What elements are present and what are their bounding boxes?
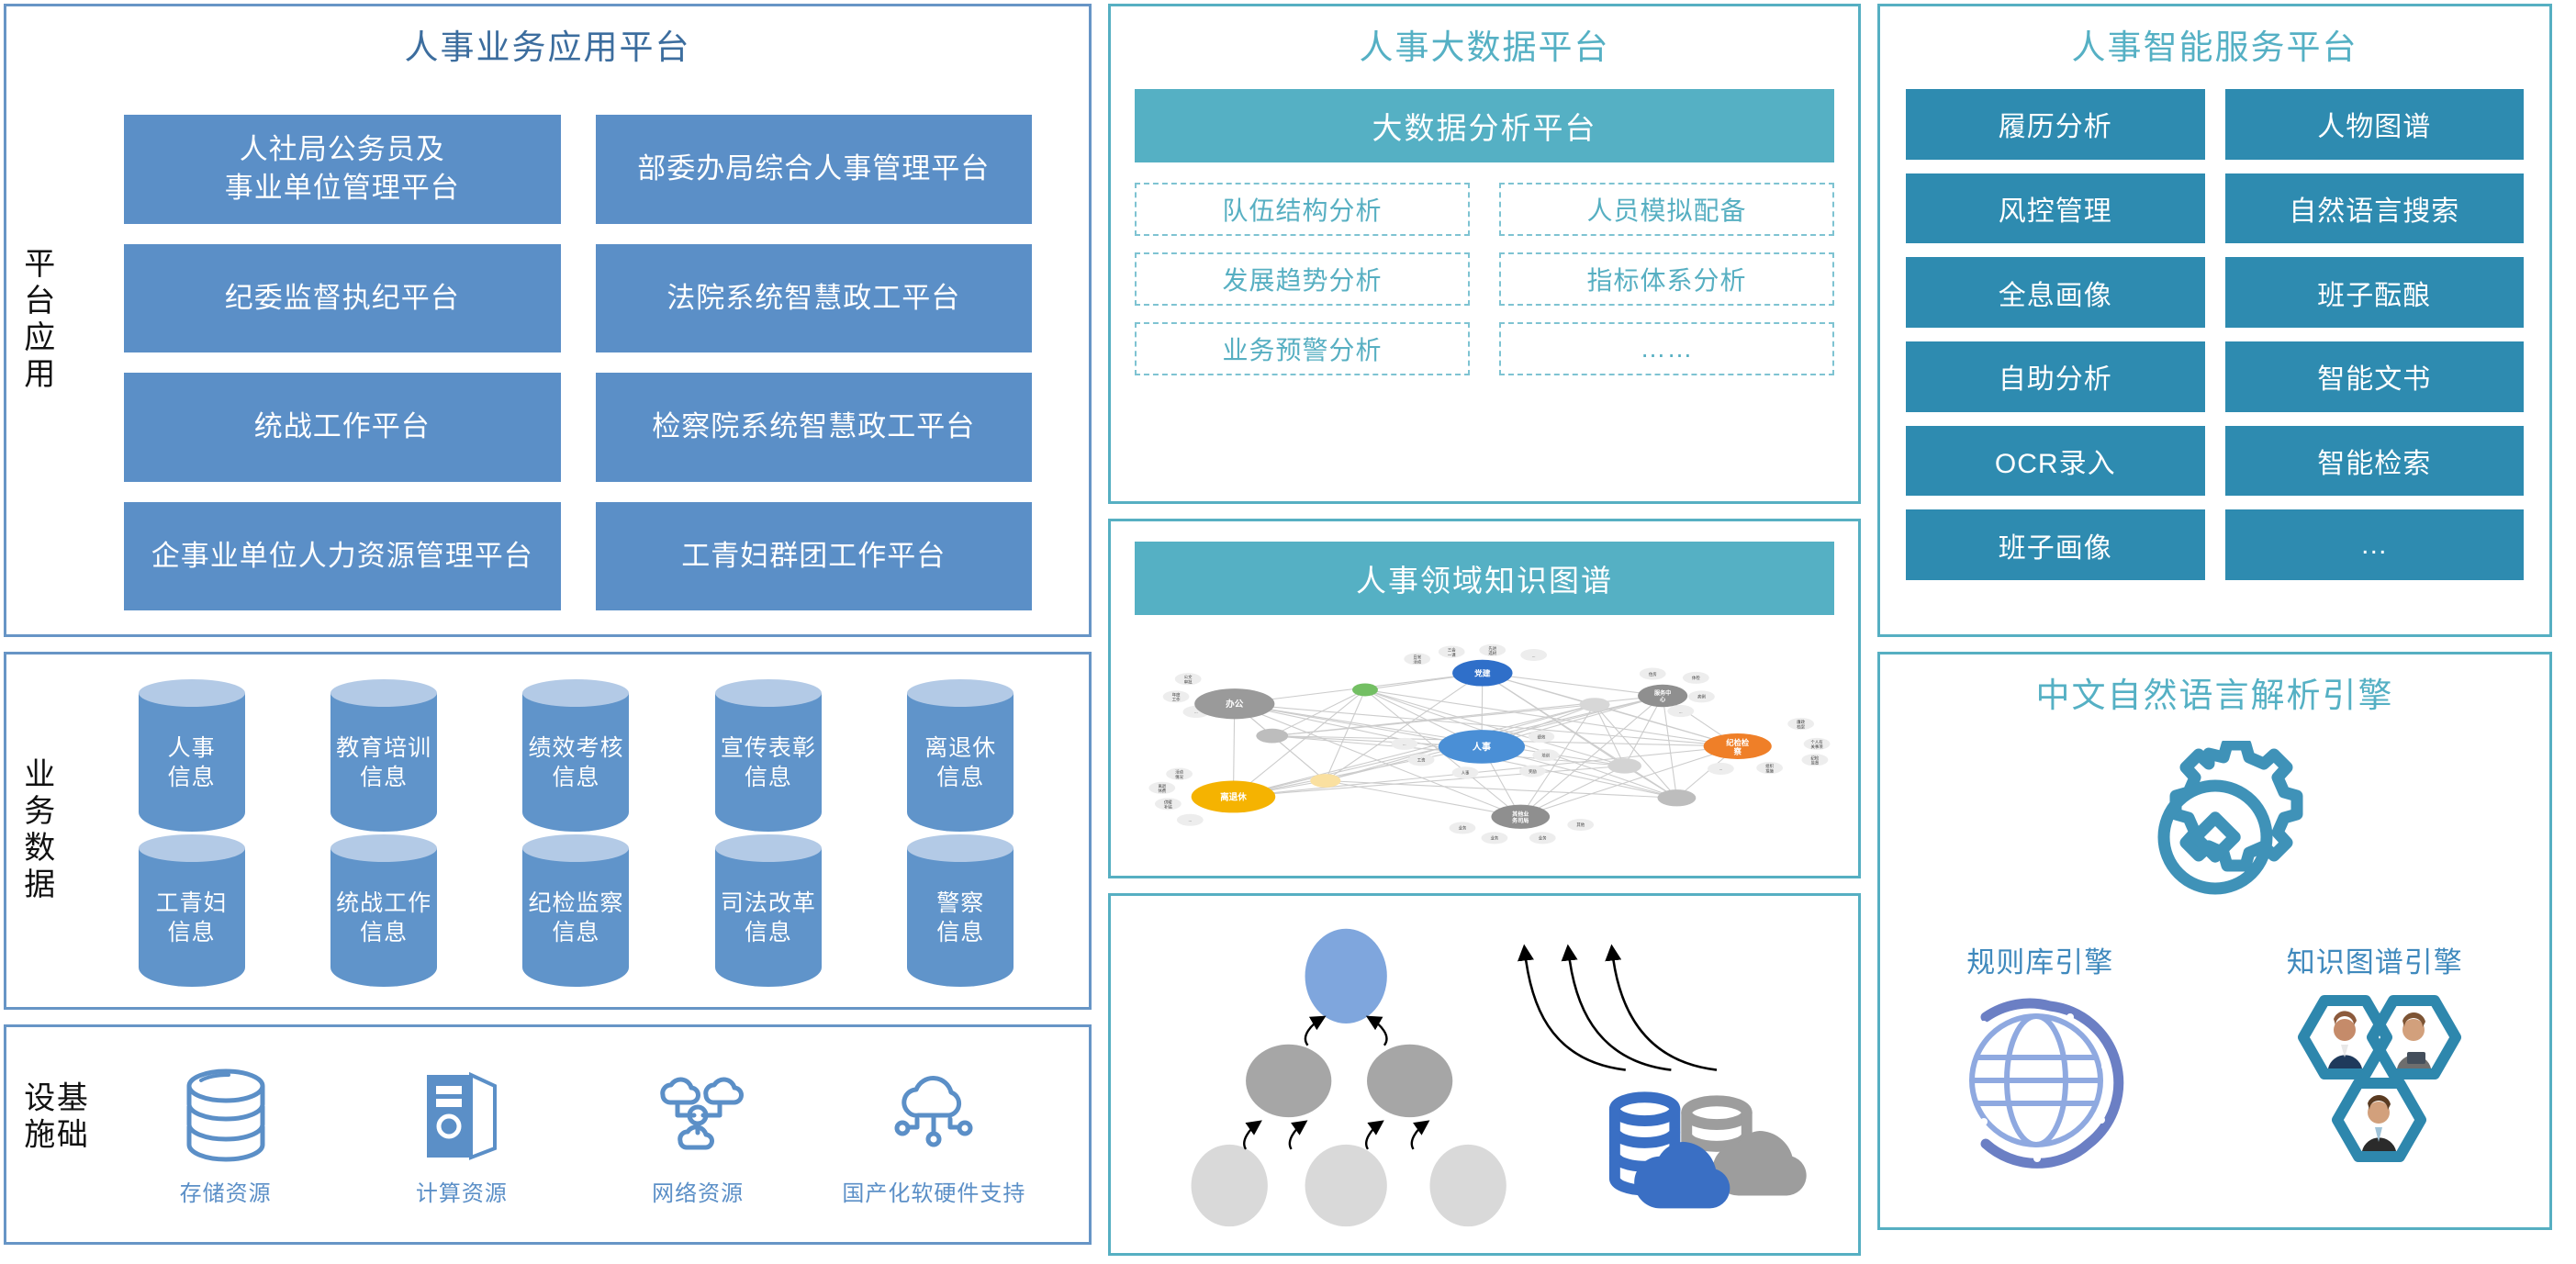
data-cylinder[interactable]: 工青妇信息 <box>139 848 245 987</box>
pyramid-bottom-node[interactable] <box>1429 1145 1506 1226</box>
flow-arrow <box>1305 1018 1322 1046</box>
kg-satellite-node[interactable]: 奖励 <box>1519 765 1546 777</box>
app-tile[interactable]: 企事业单位人力资源管理平台 <box>124 502 561 611</box>
svg-text:监督: 监督 <box>1811 760 1820 766</box>
rising-arrow <box>1568 949 1671 1070</box>
data-cylinder[interactable]: 司法改革信息 <box>715 848 822 987</box>
left-column: 人事业务应用平台 平台应用 人社局公务员及事业单位管理平台 部委办局综合人事管理… <box>4 4 1092 1260</box>
svg-text:党建: 党建 <box>1474 667 1491 677</box>
ai-service-tile[interactable]: OCR录入 <box>1906 426 2205 497</box>
nlp-sub-engine-label: 知识图谱引擎 <box>2287 939 2463 980</box>
bigdata-tile[interactable]: 人员模拟配备 <box>1499 183 1834 236</box>
kg-satellite-node[interactable]: 公文审批 <box>1175 673 1202 685</box>
svg-text:...: ... <box>1194 710 1198 714</box>
svg-text:纪检检: 纪检检 <box>1726 738 1750 747</box>
svg-text:选树: 选树 <box>1488 650 1496 656</box>
rising-arrow <box>1525 949 1626 1070</box>
nlp-sub-engine-labels: 规则库引擎 知识图谱引擎 <box>1880 939 2549 980</box>
app-tile[interactable]: 统战工作平台 <box>124 373 561 482</box>
business-data-cylinders: 人事信息教育培训信息绩效考核信息宣传表彰信息离退休信息工青妇信息统战工作信息纪检… <box>107 693 1045 987</box>
svg-text:...: ... <box>1403 742 1406 746</box>
ai-service-tile[interactable]: 自助分析 <box>1906 341 2205 412</box>
kg-plain-node[interactable] <box>1256 729 1288 744</box>
pyramid-mid-node[interactable] <box>1367 1045 1452 1117</box>
svg-text:察: 察 <box>1734 746 1742 755</box>
platform-applications-title: 人事业务应用平台 <box>6 6 1089 69</box>
knowledge-graph-band: 人事领域知识图谱 <box>1135 542 1834 615</box>
ai-service-title: 人事智能服务平台 <box>1880 6 2549 69</box>
svg-text:绩效: 绩效 <box>1538 733 1546 740</box>
svg-text:培训: 培训 <box>1541 752 1550 758</box>
svg-text:人事: 人事 <box>1462 770 1470 777</box>
flow-arrow <box>1412 1123 1427 1149</box>
app-tile[interactable]: 工青妇群团工作平台 <box>596 502 1033 611</box>
architecture-diagram: 人事业务应用平台 平台应用 人社局公务员及事业单位管理平台 部委办局综合人事管理… <box>0 0 2576 1264</box>
data-cylinder-label: 绩效考核信息 <box>522 693 629 832</box>
app-tile[interactable]: 部委办局综合人事管理平台 <box>596 115 1033 224</box>
kg-satellite-node[interactable]: ... <box>1177 814 1204 826</box>
kg-satellite-node[interactable]: 其他 <box>1567 819 1594 831</box>
kg-satellite-node[interactable]: 纪检监督 <box>1802 754 1829 766</box>
data-cylinder-label: 司法改革信息 <box>715 848 822 987</box>
kg-major-node[interactable]: 纪检检察 <box>1704 733 1772 759</box>
svg-text:住房: 住房 <box>1649 671 1657 677</box>
flow-arrow <box>1290 1123 1305 1149</box>
ai-service-tile[interactable]: 智能检索 <box>2225 426 2525 497</box>
pyramid-top-node[interactable] <box>1305 929 1387 1024</box>
kg-satellite-node[interactable]: 业务 <box>1482 832 1508 844</box>
ai-service-panel: 人事智能服务平台 履历分析人物图谱风控管理自然语言搜索全息画像班子酝酿自助分析智… <box>1877 4 2552 637</box>
platform-applications-grid: 人社局公务员及事业单位管理平台 部委办局综合人事管理平台 纪委监督执纪平台 法院… <box>124 115 1032 610</box>
ai-service-tile[interactable]: … <box>2225 509 2525 580</box>
kg-satellite-node[interactable]: 培训 <box>1532 749 1559 761</box>
svg-text:...: ... <box>1532 653 1536 657</box>
infrastructure-items: 存储资源 计算资源 <box>107 1044 1052 1231</box>
bigdata-tile[interactable]: 指标体系分析 <box>1499 252 1834 306</box>
svg-text:...: ... <box>1719 766 1723 771</box>
kg-satellite-node[interactable]: 三会一课 <box>1439 645 1465 657</box>
pyramid-bottom-node[interactable] <box>1305 1145 1387 1226</box>
svg-text:其他: 其他 <box>1576 822 1585 828</box>
svg-text:档案: 档案 <box>1797 723 1805 730</box>
flow-arrow <box>1244 1123 1259 1149</box>
svg-text:其他业: 其他业 <box>1512 811 1529 818</box>
kg-major-node[interactable]: 党建 <box>1452 660 1512 687</box>
data-cylinder[interactable]: 宣传表彰信息 <box>715 693 822 832</box>
server-tower-icon <box>418 1068 506 1164</box>
ai-service-tile[interactable]: 班子画像 <box>1906 509 2205 580</box>
svg-text:...: ... <box>1189 818 1193 822</box>
avatar <box>2328 1011 2362 1068</box>
kg-satellite-node[interactable]: 先进选树 <box>1479 644 1506 656</box>
middle-column: 人事大数据平台 大数据分析平台 队伍结构分析 人员模拟配备 发展趋势分析 指标体… <box>1108 4 1861 1260</box>
data-cylinder[interactable]: 纪检监察信息 <box>522 848 629 987</box>
database-stack-icon <box>185 1068 267 1164</box>
data-cylinder[interactable]: 绩效考核信息 <box>522 693 629 832</box>
svg-text:病例: 病例 <box>1697 694 1706 700</box>
data-cylinder[interactable]: 人事信息 <box>139 693 245 832</box>
svg-text:审批: 审批 <box>1184 678 1193 685</box>
svg-text:休费: 休费 <box>1158 788 1166 794</box>
svg-text:工资: 工资 <box>1417 757 1426 764</box>
nlp-sub-engine-icons <box>1880 984 2549 1181</box>
cloud-network-icon <box>650 1068 746 1164</box>
svg-text:体检: 体检 <box>1692 675 1700 681</box>
infra-item-label: 网络资源 <box>652 1175 744 1207</box>
kg-satellite-node[interactable]: 组织措施 <box>1756 762 1783 774</box>
flow-arrow <box>1370 1018 1386 1046</box>
bigdata-band: 大数据分析平台 <box>1135 89 1834 162</box>
infrastructure-panel: 基础设施 存储资源 <box>4 1024 1092 1245</box>
bigdata-tile[interactable]: 业务预警分析 <box>1135 322 1470 375</box>
nlp-engine-title: 中文自然语言解析引擎 <box>1880 654 2549 717</box>
data-cylinder-label: 工青妇信息 <box>139 848 245 987</box>
svg-text:务司局: 务司局 <box>1512 817 1529 824</box>
kg-satellite-node[interactable]: ... <box>1520 649 1547 661</box>
infra-item-compute[interactable]: 计算资源 <box>343 1068 579 1207</box>
kg-major-node[interactable]: 人事 <box>1439 730 1525 764</box>
ai-service-grid: 履历分析人物图谱风控管理自然语言搜索全息画像班子酝酿自助分析智能文书OCR录入智… <box>1906 89 2524 580</box>
kg-satellite-node[interactable]: 供暖补贴 <box>1155 798 1182 810</box>
kg-satellite-node[interactable]: 体检 <box>1683 672 1709 684</box>
svg-text:关事项: 关事项 <box>1811 744 1824 750</box>
svg-text:业务: 业务 <box>1539 835 1547 842</box>
svg-text:措施: 措施 <box>1765 767 1774 774</box>
database-cluster-icon <box>1615 1097 1807 1208</box>
knowledge-graph-panel: 人事领域知识图谱 三会一课先进选树...日常活动公文审批年度工作...住房体检病… <box>1108 519 1861 878</box>
data-cylinder-label: 统战工作信息 <box>330 848 437 987</box>
kg-satellite-node[interactable]: 绩效 <box>1529 731 1555 743</box>
data-cylinder[interactable]: 离退休信息 <box>907 693 1014 832</box>
nlp-engine-panel: 中文自然语言解析引擎 规则库引擎 知识图谱引擎 <box>1877 652 2552 1230</box>
pyramid-bottom-node[interactable] <box>1192 1145 1268 1226</box>
pyramid-canvas <box>1116 901 1853 1247</box>
infra-item-network[interactable]: 网络资源 <box>580 1068 816 1207</box>
avatar <box>2362 1095 2396 1151</box>
data-cylinder-label: 警察信息 <box>907 848 1014 987</box>
infra-item-label: 存储资源 <box>180 1175 272 1207</box>
cloud-chip-icon <box>886 1068 982 1164</box>
kg-satellite-node[interactable]: ... <box>1391 738 1417 750</box>
infra-item-label: 国产化软硬件支持 <box>842 1175 1025 1207</box>
bigdata-dashed-grid: 队伍结构分析 人员模拟配备 发展趋势分析 指标体系分析 业务预警分析 …… <box>1135 183 1834 375</box>
kg-satellite-node[interactable]: 住房 <box>1640 667 1666 679</box>
svg-text:情况: 情况 <box>1175 774 1183 780</box>
bigdata-title: 人事大数据平台 <box>1111 6 1858 69</box>
kg-satellite-node[interactable]: 人事 <box>1452 766 1479 778</box>
bigdata-panel: 人事大数据平台 大数据分析平台 队伍结构分析 人员模拟配备 发展趋势分析 指标体… <box>1108 4 1861 504</box>
pyramid-panel <box>1108 893 1861 1256</box>
ai-service-tile[interactable]: 自然语言搜索 <box>2225 173 2525 244</box>
avatar <box>2397 1012 2431 1068</box>
infra-item-storage[interactable]: 存储资源 <box>107 1068 343 1207</box>
kg-satellite-node[interactable]: 年度工作 <box>1163 690 1190 702</box>
ai-service-tile[interactable]: 全息画像 <box>1906 257 2205 328</box>
business-data-panel: 业务数据 人事信息教育培训信息绩效考核信息宣传表彰信息离退休信息工青妇信息统战工… <box>4 652 1092 1010</box>
infra-item-domestic-hw[interactable]: 国产化软硬件支持 <box>816 1068 1052 1207</box>
flow-arrow <box>1366 1123 1381 1149</box>
pyramid-mid-node[interactable] <box>1246 1045 1331 1117</box>
svg-text:办公: 办公 <box>1226 699 1244 710</box>
infra-item-label: 计算资源 <box>416 1175 508 1207</box>
data-cylinder[interactable]: 教育培训信息 <box>330 693 437 832</box>
data-cylinder-label: 人事信息 <box>139 693 245 832</box>
ai-service-tile[interactable]: 风控管理 <box>1906 173 2205 244</box>
bigdata-tile[interactable]: …… <box>1499 322 1834 375</box>
kg-satellite-node[interactable]: ... <box>1667 705 1694 717</box>
rising-arrow <box>1612 949 1717 1070</box>
data-cylinder-label: 教育培训信息 <box>330 693 437 832</box>
app-tile[interactable]: 人社局公务员及事业单位管理平台 <box>124 115 561 224</box>
kg-satellite-node[interactable]: 病例 <box>1688 690 1715 702</box>
kg-satellite-node[interactable]: 离退休费 <box>1148 782 1175 794</box>
svg-text:人事: 人事 <box>1473 741 1491 753</box>
svg-text:心: 心 <box>1660 696 1666 703</box>
kg-satellite-node[interactable]: 业务 <box>1450 822 1476 833</box>
app-tile[interactable]: 纪委监督执纪平台 <box>124 244 561 353</box>
kg-major-node[interactable]: 服务中心 <box>1638 685 1687 707</box>
svg-text:补贴: 补贴 <box>1164 804 1172 811</box>
kg-satellite-node[interactable]: 日常活动 <box>1404 653 1430 665</box>
kg-satellite-node[interactable]: 工资 <box>1408 754 1435 766</box>
hexagon-people-icon <box>2269 984 2481 1181</box>
data-cylinder-label: 离退休信息 <box>907 693 1014 832</box>
data-cylinder[interactable]: 警察信息 <box>907 848 1014 987</box>
nlp-sub-engine-label: 规则库引擎 <box>1966 939 2113 980</box>
globe-sphere-icon <box>1949 984 2133 1177</box>
kg-major-node[interactable]: 离退休 <box>1192 780 1276 812</box>
kg-major-node[interactable]: 其他业务司局 <box>1491 805 1550 829</box>
app-tile[interactable]: 检察院系统智慧政工平台 <box>596 373 1033 482</box>
svg-text:...: ... <box>1679 709 1683 713</box>
svg-text:一课: 一课 <box>1448 652 1456 658</box>
right-column: 人事智能服务平台 履历分析人物图谱风控管理自然语言搜索全息画像班子酝酿自助分析智… <box>1877 4 2552 1260</box>
kg-plain-node[interactable] <box>1352 683 1378 696</box>
svg-text:业务: 业务 <box>1491 835 1499 842</box>
svg-text:活动: 活动 <box>1413 659 1421 666</box>
kg-major-node[interactable]: 办公 <box>1194 688 1274 719</box>
svg-text:服务中: 服务中 <box>1654 689 1671 697</box>
kg-satellite-node[interactable]: 个人有关事项 <box>1804 738 1831 750</box>
gear-container <box>1880 741 2549 934</box>
data-cylinder[interactable]: 统战工作信息 <box>330 848 437 987</box>
platform-applications-side-label: 平台应用 <box>19 247 52 394</box>
kg-plain-node[interactable] <box>1657 789 1696 806</box>
ai-service-tile[interactable]: 履历分析 <box>1906 89 2205 160</box>
svg-text:业务: 业务 <box>1459 825 1467 832</box>
svg-text:工作: 工作 <box>1172 697 1181 703</box>
ai-service-tile[interactable]: 班子酝酿 <box>2225 257 2525 328</box>
knowledge-graph-canvas: 三会一课先进选树...日常活动公文审批年度工作...住房体检病例...廉政档案个… <box>1120 610 1849 870</box>
kg-plain-node[interactable] <box>1310 774 1340 788</box>
kg-satellite-node[interactable]: 廉政档案 <box>1787 718 1814 730</box>
svg-text:离退休: 离退休 <box>1220 791 1247 802</box>
ai-service-tile[interactable]: 智能文书 <box>2225 341 2525 412</box>
platform-applications-panel: 人事业务应用平台 平台应用 人社局公务员及事业单位管理平台 部委办局综合人事管理… <box>4 4 1092 637</box>
data-cylinder-label: 宣传表彰信息 <box>715 693 822 832</box>
data-cylinder-label: 纪检监察信息 <box>522 848 629 987</box>
infrastructure-side-label: 基础设施 <box>19 1081 84 1189</box>
app-tile[interactable]: 法院系统智慧政工平台 <box>596 244 1033 353</box>
bigdata-tile[interactable]: 队伍结构分析 <box>1135 183 1470 236</box>
business-data-side-label: 业务数据 <box>19 757 52 904</box>
kg-plain-node[interactable] <box>1579 698 1609 711</box>
gear-diamond-icon <box>2119 741 2312 934</box>
ai-service-tile[interactable]: 人物图谱 <box>2225 89 2525 160</box>
kg-satellite-node[interactable]: ... <box>1708 763 1734 775</box>
svg-text:奖励: 奖励 <box>1529 768 1537 775</box>
bigdata-tile[interactable]: 发展趋势分析 <box>1135 252 1470 306</box>
kg-satellite-node[interactable]: 业务 <box>1529 832 1556 844</box>
kg-plain-node[interactable] <box>1607 758 1641 774</box>
kg-satellite-node[interactable]: 活动情况 <box>1166 768 1193 780</box>
